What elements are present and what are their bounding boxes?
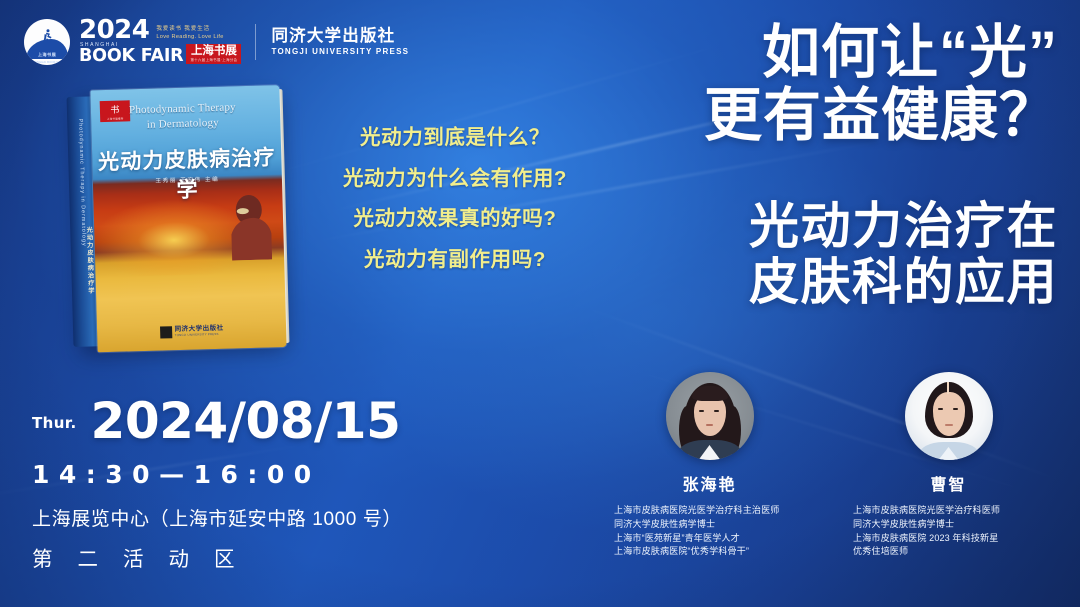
emblem-label-cn: 上海书展 [24, 52, 70, 58]
speaker-card: 曹智 上海市皮肤病医院光医学治疗科医师 同济大学皮肤性病学博士 上海市皮肤病医院… [829, 372, 1068, 559]
event-date-row: Thur. 2024/08/15 [32, 398, 402, 445]
portrait-eye-right [953, 408, 958, 410]
speaker-credentials: 上海市皮肤病医院光医学治疗科医师 同济大学皮肤性病学博士 上海市皮肤病医院 20… [829, 504, 1068, 559]
book-title-en-line1: Photodynamic Therapy [129, 101, 236, 116]
portrait-eye-left [938, 408, 943, 410]
headline-line-2: 更有益健康？ [704, 85, 1058, 148]
portrait-mouth [945, 424, 953, 426]
book-publisher-en: TONGJI UNIVERSITY PRESS [175, 333, 224, 338]
book-title-en-line2: in Dermatology [147, 117, 219, 131]
book-fair-cn-subname: 第十六届上海书展·上海分会 [190, 58, 237, 62]
credential-line: 上海市皮肤病医院“优秀学科骨干” [614, 545, 829, 559]
question-item: 光动力有副作用吗? [300, 250, 610, 271]
book-fair-label: BOOK FAIR [79, 48, 183, 66]
speaker-name: 张海艳 [682, 471, 736, 495]
event-day-of-week: Thur. [32, 414, 77, 445]
credential-line: 上海市皮肤病医院光医学治疗科主治医师 [614, 504, 829, 518]
book-fair-top-row: 2024 我爱读书 我爱生活 Love Reading. Love Life [79, 19, 241, 43]
portrait-bangs [692, 386, 728, 401]
event-time-range: 14:30—16:00 [32, 460, 402, 489]
book-fair-slogan: 我爱读书 我爱生活 Love Reading. Love Life [156, 25, 223, 43]
event-zone: 第二活动区 [32, 542, 402, 572]
slogan-cn: 我爱读书 我爱生活 [156, 25, 223, 33]
question-item: 光动力到底是什么？ [300, 128, 610, 149]
credential-line: 上海市皮肤病医院光医学治疗科医师 [853, 504, 1068, 518]
emblem-label-en: SHANGHAI BOOK FAIR [24, 60, 70, 64]
publisher-name-en: TONGJI UNIVERSITY PRESS [271, 47, 409, 57]
event-details: Thur. 2024/08/15 14:30—16:00 上海展览中心（上海市延… [32, 398, 402, 572]
credential-line: 上海市皮肤病医院 2023 年科技新星 [853, 532, 1068, 546]
book-fair-wordmark: 2024 我爱读书 我爱生活 Love Reading. Love Life S… [79, 19, 241, 65]
portrait-eye-left [699, 410, 704, 412]
main-headline: 如何让“光” 更有益健康？ [704, 22, 1058, 147]
credential-line: 优秀住培医师 [853, 545, 1068, 559]
book-cover-figure-icon [218, 193, 272, 260]
credential-line: 同济大学皮肤性病学博士 [853, 518, 1068, 532]
book-spine-title-cn: 光动力皮肤病治疗学 [73, 226, 95, 295]
subtitle-block: 光动力治疗在 皮肤科的应用 [749, 198, 1058, 310]
book-publisher-logo: 同济大学出版社 TONGJI UNIVERSITY PRESS [160, 325, 224, 339]
book-fair-year: 2024 [79, 19, 149, 43]
book-cover-mockup: Photodynamic Therapy in Dermatology 光动力皮… [66, 85, 288, 353]
speaker-name: 曹智 [930, 471, 966, 495]
book-title-en: Photodynamic Therapy in Dermatology [91, 99, 275, 134]
portrait-zhang-haiyan [666, 372, 754, 460]
emblem-figure-icon [39, 28, 54, 44]
question-item: 光动力为什么会有作用? [300, 169, 610, 190]
portrait-hair-part [947, 382, 949, 394]
book-fair-emblem-icon: 上海书展 SHANGHAI BOOK FAIR [24, 19, 70, 65]
publisher-mark-icon [160, 326, 172, 338]
portrait-eye-right [714, 410, 719, 412]
publisher-name-cn: 同济大学出版社 [271, 26, 409, 47]
portrait-cao-zhi [905, 372, 993, 460]
speaker-credentials: 上海市皮肤病医院光医学治疗科主治医师 同济大学皮肤性病学博士 上海市“医苑新星”… [590, 504, 829, 559]
credential-line: 上海市“医苑新星”青年医学人才 [614, 532, 829, 546]
speaker-card: 张海艳 上海市皮肤病医院光医学治疗科主治医师 同济大学皮肤性病学博士 上海市“医… [590, 372, 829, 559]
publisher-logo: 同济大学出版社 TONGJI UNIVERSITY PRESS [271, 26, 409, 57]
headline-line-1: 如何让“光” [704, 22, 1058, 85]
speaker-list: 张海艳 上海市皮肤病医院光医学治疗科主治医师 同济大学皮肤性病学博士 上海市“医… [590, 372, 1068, 559]
question-list: 光动力到底是什么？ 光动力为什么会有作用? 光动力效果真的好吗? 光动力有副作用… [300, 128, 610, 270]
book-front-cover: 书 上海书展推荐 Photodynamic Therapy in Dermato… [90, 85, 286, 352]
question-item: 光动力效果真的好吗? [300, 209, 610, 230]
poster-canvas: 上海书展 SHANGHAI BOOK FAIR 2024 我爱读书 我爱生活 L… [0, 0, 1080, 607]
logo-divider [255, 24, 256, 60]
book-fair-cn-name: 上海书展 [191, 45, 237, 57]
subtitle-line-1: 光动力治疗在 [749, 198, 1058, 254]
portrait-face [933, 392, 965, 436]
book-fair-cn-badge: 上海书展 第十六届上海书展·上海分会 [186, 44, 241, 64]
subtitle-line-2: 皮肤科的应用 [749, 254, 1058, 310]
portrait-mouth [706, 424, 713, 426]
event-date: 2024/08/15 [91, 398, 401, 445]
event-venue: 上海展览中心（上海市延安中路 1000 号） [32, 504, 402, 531]
book-fair-bottom-row: SHANGHAI BOOK FAIR 上海书展 第十六届上海书展·上海分会 [79, 43, 241, 66]
slogan-en: Love Reading. Love Life [156, 33, 223, 41]
credential-line: 同济大学皮肤性病学博士 [614, 518, 829, 532]
header-logo-bar: 上海书展 SHANGHAI BOOK FAIR 2024 我爱读书 我爱生活 L… [24, 17, 409, 67]
